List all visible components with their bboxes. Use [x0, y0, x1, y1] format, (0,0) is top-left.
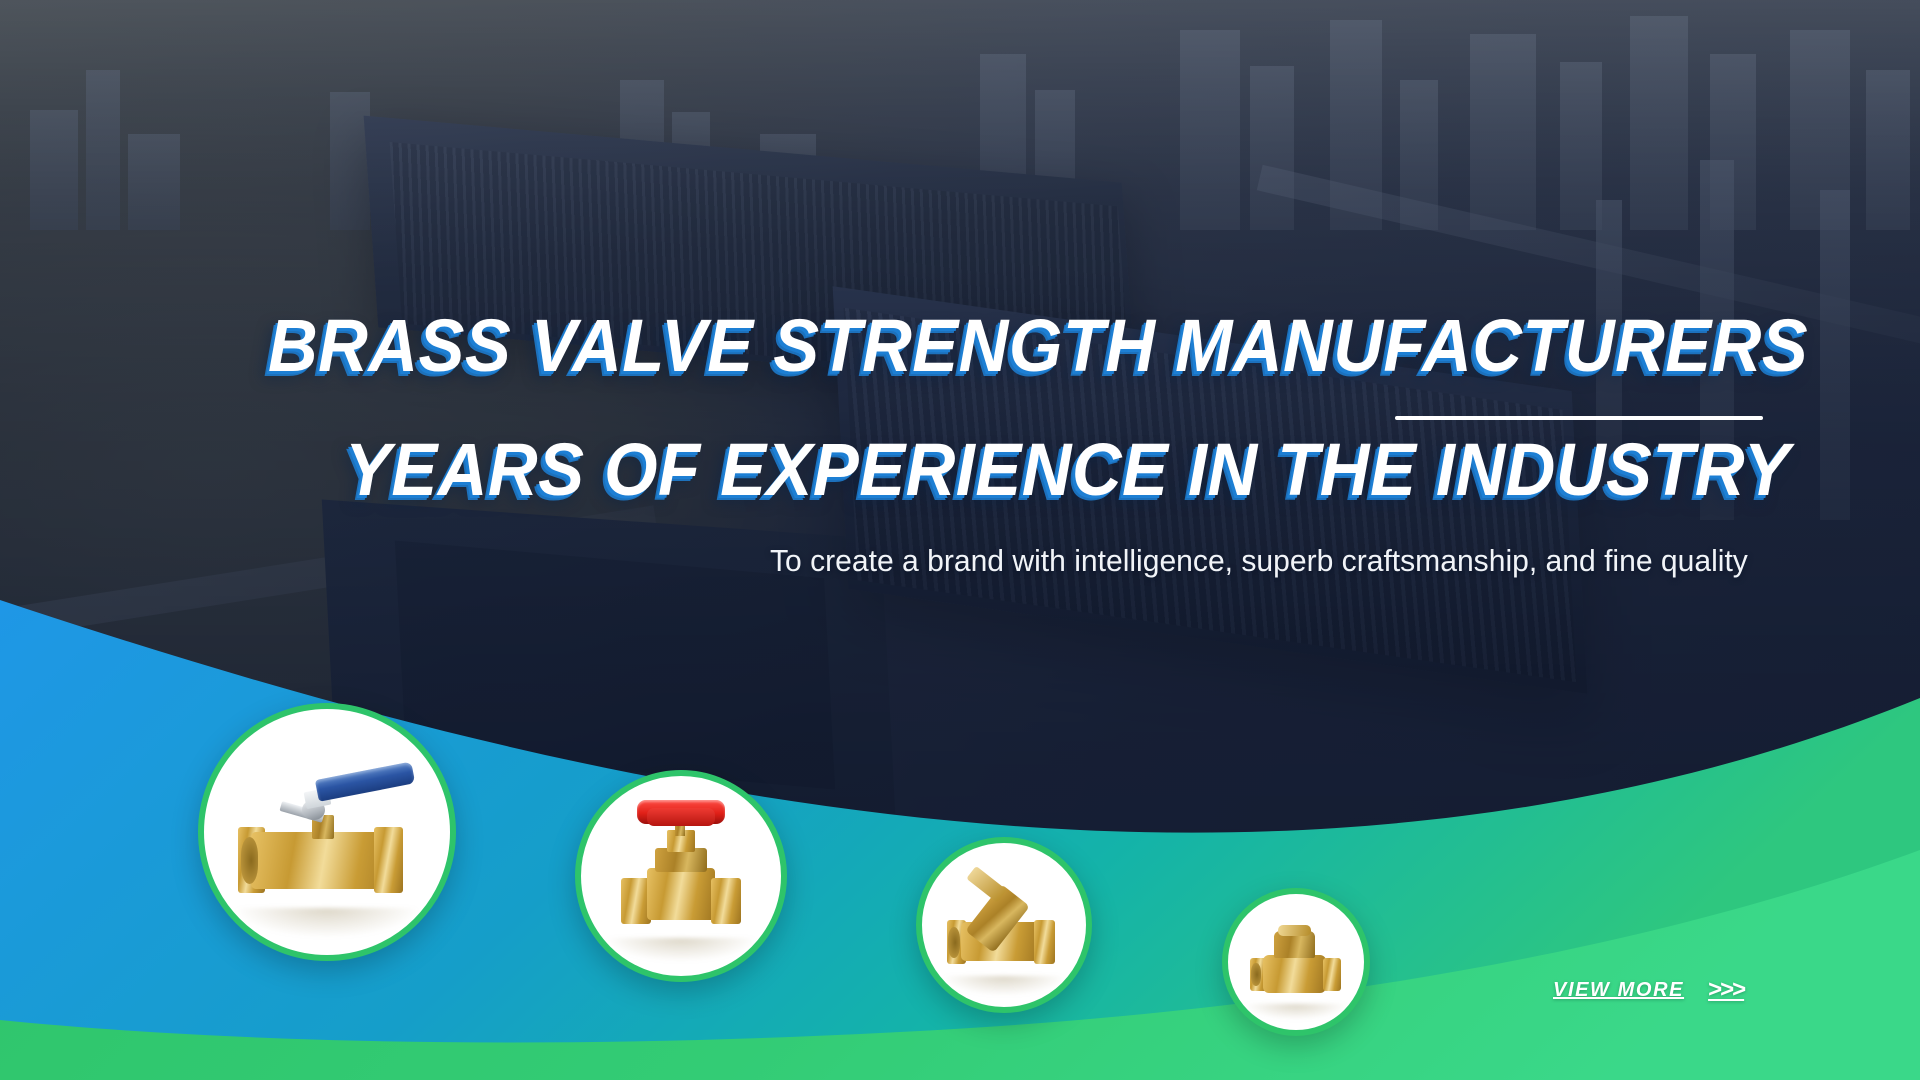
valve-bonnet-cap-top — [1278, 925, 1311, 936]
headline-line-1: BRASS VALVE STRENGTH MANUFACTURERS — [268, 303, 1808, 388]
headline-divider — [1395, 416, 1763, 420]
headline-line-2: YEARS OF EXPERIENCE IN THE INDUSTRY — [345, 427, 1790, 512]
valve-bore — [1251, 963, 1261, 986]
product-circle-y-strainer[interactable] — [916, 837, 1092, 1013]
chevron-right-triple-icon: >>> — [1708, 976, 1744, 1004]
valve-end-right — [374, 827, 404, 893]
brass-gate-valve-image — [581, 776, 781, 976]
product-circle-check-valve[interactable] — [1222, 888, 1370, 1036]
valve-end-right — [1323, 958, 1341, 991]
valve-end-right — [1034, 920, 1055, 964]
brass-y-strainer-image — [922, 843, 1086, 1007]
view-more-button[interactable]: VIEW MORE >>> — [1553, 976, 1744, 1004]
product-reflection — [234, 908, 421, 938]
product-circle-ball-valve[interactable] — [198, 703, 456, 961]
valve-blue-lever-handle — [315, 762, 416, 802]
view-more-label: VIEW MORE — [1553, 979, 1684, 1002]
valve-body — [1263, 955, 1326, 993]
valve-body — [647, 868, 715, 920]
hero-banner: BRASS VALVE STRENGTH MANUFACTURERS YEARS… — [0, 0, 1920, 1080]
valve-bore — [948, 927, 959, 958]
product-reflection — [605, 938, 757, 962]
product-reflection — [942, 976, 1067, 996]
valve-bore — [241, 837, 258, 884]
brass-ball-valve-image — [204, 709, 450, 955]
valve-end-right — [711, 878, 741, 924]
valve-red-handwheel-inner — [647, 808, 715, 826]
brass-check-valve-image — [1228, 894, 1364, 1030]
product-circle-gate-valve[interactable] — [575, 770, 787, 982]
product-reflection — [1244, 1004, 1347, 1020]
